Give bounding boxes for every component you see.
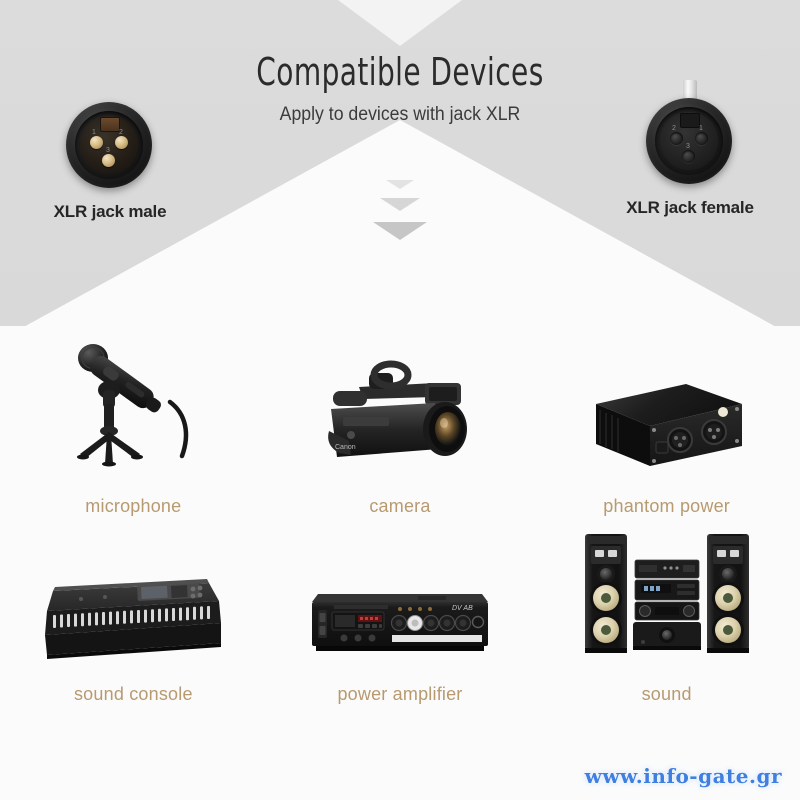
chevron-down-icon xyxy=(380,198,420,211)
xlr-female-socket-2 xyxy=(670,132,683,145)
xlr-female-pin-number-3: 3 xyxy=(686,143,690,150)
device-cell-camera: Canon camera xyxy=(267,318,534,517)
xlr-male-label: XLR jack male xyxy=(0,202,220,222)
device-cell-microphone: microphone xyxy=(0,318,267,517)
chevron-down-icon-group xyxy=(355,180,445,260)
xlr-female-pin-number-1: 1 xyxy=(699,125,703,132)
speaker-system-icon xyxy=(577,517,757,662)
site-watermark: www.info-gate.gr xyxy=(585,764,782,788)
power-amplifier-icon: DV AB xyxy=(300,517,500,662)
microphone-icon xyxy=(58,318,208,478)
device-row-1: microphone xyxy=(0,318,800,517)
device-label: sound xyxy=(642,684,692,705)
device-label: sound console xyxy=(74,684,193,705)
xlr-female-pin-number-2: 2 xyxy=(672,125,676,132)
xlr-female-key-slot xyxy=(680,113,700,128)
xlr-male-pin-number-2: 2 xyxy=(119,129,123,136)
device-cell-sound: sound xyxy=(533,517,800,705)
camcorder-icon: Canon xyxy=(317,318,482,478)
xlr-male-face: 1 2 3 xyxy=(80,116,138,174)
compatible-devices-infographic: Compatible Devices Apply to devices with… xyxy=(0,0,800,800)
device-label: microphone xyxy=(85,496,181,517)
device-cell-phantom-power: phantom power xyxy=(533,318,800,517)
xlr-male-pin-2 xyxy=(115,136,128,149)
xlr-female-block: 2 1 3 XLR jack female xyxy=(580,88,800,218)
chevron-down-icon xyxy=(373,222,427,240)
xlr-female-label: XLR jack female xyxy=(580,198,800,218)
xlr-male-pin-number-3: 3 xyxy=(106,147,110,154)
chevron-down-icon xyxy=(386,180,414,189)
xlr-male-connector-icon: 1 2 3 xyxy=(60,92,160,190)
xlr-female-socket-3 xyxy=(682,150,695,163)
xlr-male-key-slot xyxy=(100,117,120,132)
svg-text:Canon: Canon xyxy=(335,444,356,451)
xlr-male-pin-1 xyxy=(90,136,103,149)
device-row-2: sound console xyxy=(0,517,800,705)
svg-text:DV AB: DV AB xyxy=(452,605,473,612)
xlr-female-ring: 2 1 3 xyxy=(655,107,723,175)
device-label: camera xyxy=(369,496,430,517)
xlr-female-body: 2 1 3 xyxy=(646,98,732,184)
xlr-male-body: 1 2 3 xyxy=(66,102,152,188)
xlr-female-latch-tab xyxy=(683,80,697,100)
xlr-female-face: 2 1 3 xyxy=(660,112,718,170)
device-grid: microphone xyxy=(0,318,800,705)
xlr-male-pin-number-1: 1 xyxy=(92,129,96,136)
phantom-power-icon xyxy=(582,318,752,478)
xlr-female-connector-icon: 2 1 3 xyxy=(640,88,740,186)
device-cell-sound-console: sound console xyxy=(0,517,267,705)
xlr-male-ring: 1 2 3 xyxy=(75,111,143,179)
xlr-female-socket-1 xyxy=(695,132,708,145)
device-cell-power-amplifier: DV AB xyxy=(267,517,534,705)
device-label: power amplifier xyxy=(337,684,462,705)
xlr-male-block: 1 2 3 XLR jack male xyxy=(0,92,220,222)
device-label: phantom power xyxy=(603,496,730,517)
mixing-console-icon xyxy=(33,517,233,662)
xlr-male-pin-3 xyxy=(102,154,115,167)
